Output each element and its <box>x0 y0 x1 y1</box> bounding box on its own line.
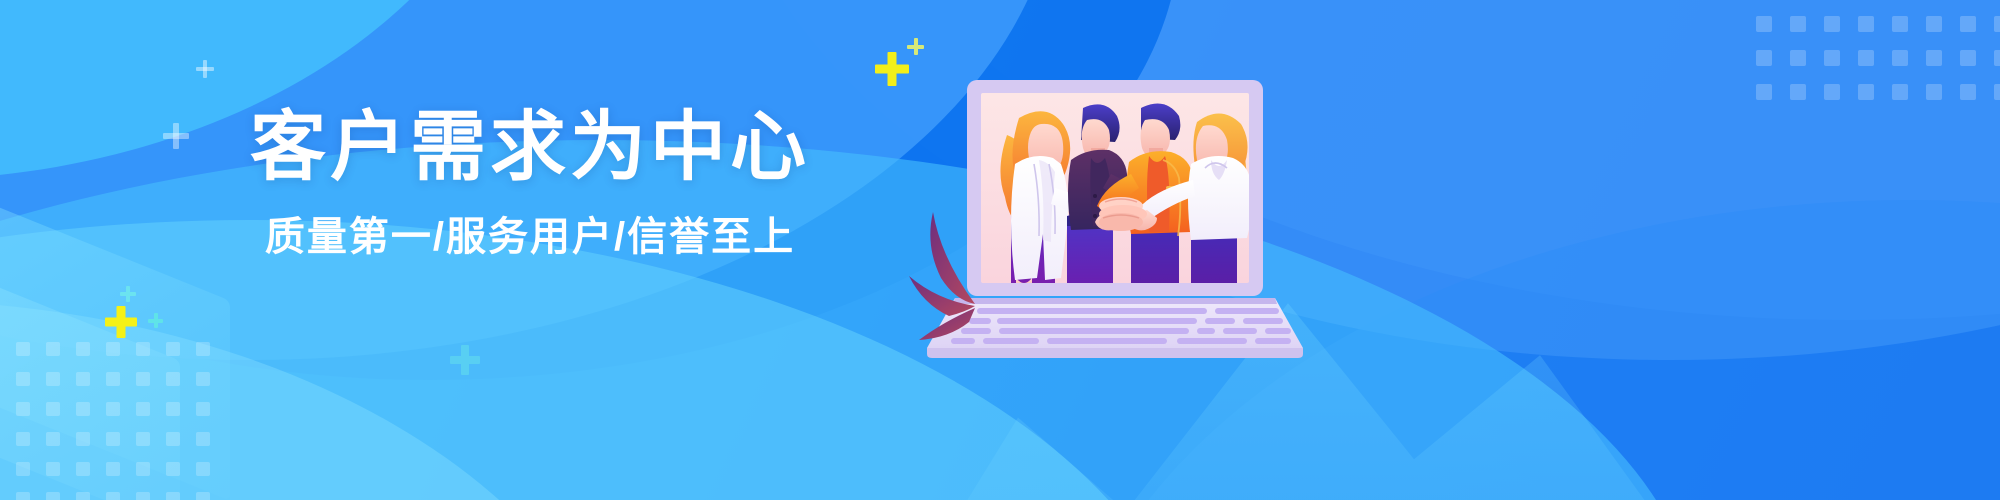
laptop-teamwork-illustration <box>915 60 1315 360</box>
plus-cyan-tiny-left-icon <box>120 286 136 302</box>
plus-yellow-small-right-icon <box>907 38 924 55</box>
dot-grid-top-right <box>1756 0 2000 100</box>
plus-yellow-large-left-icon <box>105 306 137 338</box>
background-wave-bottom-3 <box>0 300 640 500</box>
plus-white-top-a-icon <box>196 60 214 78</box>
promo-banner: 客户需求为中心 质量第一/服务用户/信誉至上 <box>0 0 2000 500</box>
banner-subline: 质量第一/服务用户/信誉至上 <box>250 204 810 262</box>
stacked-hands <box>1099 197 1147 231</box>
plus-yellow-large-right-icon <box>875 52 909 86</box>
background-wave-right <box>720 0 2000 360</box>
background-chevron-b <box>0 239 180 500</box>
background-chevron-a <box>0 171 230 500</box>
banner-copy-block: 客户需求为中心 质量第一/服务用户/信誉至上 <box>250 108 810 262</box>
banner-headline: 客户需求为中心 <box>250 108 810 188</box>
plus-cyan-mid-center-icon <box>450 345 480 375</box>
plus-cyan-small-left-icon <box>148 313 163 328</box>
plus-white-top-b-icon <box>163 123 189 149</box>
laptop-keyboard <box>927 298 1303 358</box>
leaf-decor <box>909 212 975 340</box>
dot-grid-bottom-left <box>0 342 210 500</box>
